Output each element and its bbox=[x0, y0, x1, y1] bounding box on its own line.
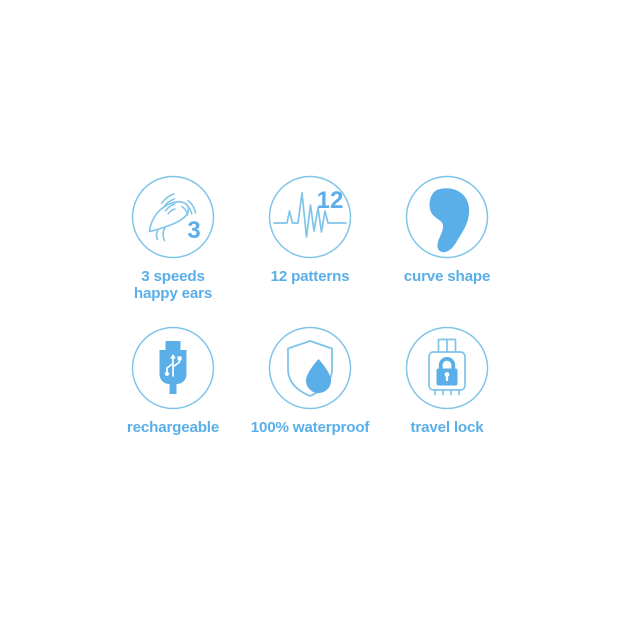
curve-shape-icon bbox=[405, 175, 489, 259]
vibration-waves-icon: 3 bbox=[131, 175, 215, 259]
feature-label-speeds-line1: 3 speeds bbox=[141, 268, 204, 285]
feature-row-top: 3 3 speeds happy ears 12 12 patterns bbox=[0, 175, 620, 302]
feature-label-patterns: 12 patterns bbox=[271, 268, 350, 285]
feature-item-travellock: travel lock bbox=[379, 326, 516, 436]
speeds-badge-number: 3 bbox=[187, 217, 200, 244]
feature-item-rechargeable: rechargeable bbox=[105, 326, 242, 436]
feature-label-rechargeable-line1: rechargeable bbox=[127, 419, 219, 436]
feature-item-patterns: 12 12 patterns bbox=[242, 175, 379, 285]
feature-label-travellock: travel lock bbox=[411, 419, 484, 436]
feature-row-bottom: rechargeable 100% waterproof bbox=[0, 326, 620, 436]
feature-label-curve: curve shape bbox=[404, 268, 490, 285]
feature-label-curve-line1: curve shape bbox=[404, 268, 490, 285]
feature-item-curve: curve shape bbox=[379, 175, 516, 285]
feature-label-waterproof-line1: 100% waterproof bbox=[251, 419, 370, 436]
feature-label-speeds: 3 speeds happy ears bbox=[134, 268, 212, 302]
feature-label-waterproof: 100% waterproof bbox=[251, 419, 370, 436]
waveform-icon: 12 bbox=[268, 175, 352, 259]
feature-label-travellock-line1: travel lock bbox=[411, 419, 484, 436]
feature-icon-grid: 3 3 speeds happy ears 12 12 patterns bbox=[0, 0, 620, 620]
feature-label-rechargeable: rechargeable bbox=[127, 419, 219, 436]
feature-item-speeds: 3 3 speeds happy ears bbox=[105, 175, 242, 302]
suitcase-lock-icon bbox=[405, 326, 489, 410]
feature-label-speeds-line2: happy ears bbox=[134, 285, 212, 302]
feature-item-waterproof: 100% waterproof bbox=[242, 326, 379, 436]
usb-plug-icon bbox=[131, 326, 215, 410]
feature-label-patterns-line1: 12 patterns bbox=[271, 268, 350, 285]
shield-water-drop-icon bbox=[268, 326, 352, 410]
patterns-badge-number: 12 bbox=[317, 187, 344, 214]
